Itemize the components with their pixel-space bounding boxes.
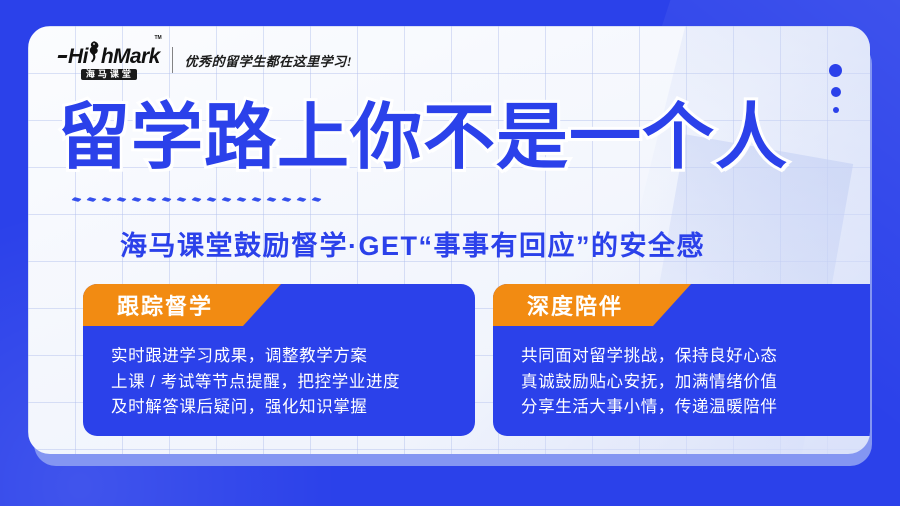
- slash-divider: [72, 198, 321, 201]
- slash-mark-icon: [296, 197, 306, 202]
- brand-header: Hi hMark TM 海马课堂 优秀的留学生都在这里学习!: [58, 40, 352, 80]
- slash-mark-icon: [86, 197, 96, 202]
- card-tab-label: 深度陪伴: [527, 289, 623, 321]
- page-title: 留学路上你不是一个人: [58, 102, 788, 174]
- slash-mark-icon: [281, 197, 291, 202]
- logo-trademark: TM: [154, 36, 161, 41]
- card-tab-companionship: 深度陪伴: [493, 284, 691, 326]
- dot-decoration-group: [829, 64, 842, 113]
- slash-mark-icon: [251, 197, 261, 202]
- card-line: 及时解答课后疑问，强化知识掌握: [111, 395, 475, 421]
- logo-dash-icon: [58, 55, 68, 58]
- slash-mark-icon: [206, 197, 216, 202]
- slash-mark-icon: [116, 197, 126, 202]
- slash-mark-icon: [161, 197, 171, 202]
- card-line: 真诚鼓励贴心安抚，加满情绪价值: [521, 370, 870, 396]
- card-line: 分享生活大事小情，传递温暖陪伴: [521, 395, 870, 421]
- dot-small-icon: [833, 107, 839, 113]
- dot-large-icon: [829, 64, 842, 77]
- card-line: 共同面对留学挑战，保持良好心态: [521, 344, 870, 370]
- slash-mark-icon: [236, 197, 246, 202]
- poster-canvas: Hi hMark TM 海马课堂 优秀的留学生都在这里学习!: [0, 0, 900, 506]
- feature-card-companionship: 深度陪伴 共同面对留学挑战，保持良好心态 真诚鼓励贴心安抚，加满情绪价值 分享生…: [493, 284, 870, 436]
- feature-card-group: 跟踪督学 实时跟进学习成果，调整教学方案 上课 / 考试等节点提醒，把控学业进度…: [83, 284, 870, 436]
- card-body-tracking: 实时跟进学习成果，调整教学方案 上课 / 考试等节点提醒，把控学业进度 及时解答…: [83, 326, 475, 421]
- slash-mark-icon: [101, 197, 111, 202]
- slash-mark-icon: [146, 197, 156, 202]
- slash-mark-icon: [71, 197, 81, 202]
- card-line: 上课 / 考试等节点提醒，把控学业进度: [111, 370, 475, 396]
- logo-wordmark: Hi hMark TM: [58, 41, 160, 67]
- feature-card-tracking: 跟踪督学 实时跟进学习成果，调整教学方案 上课 / 考试等节点提醒，把控学业进度…: [83, 284, 475, 436]
- page-subtitle: 海马课堂鼓励督学·GET“事事有回应”的安全感: [120, 224, 705, 263]
- highmark-logo: Hi hMark TM 海马课堂: [58, 41, 160, 80]
- card-tab-tracking: 跟踪督学: [83, 284, 281, 326]
- logo-prefix-text: Hi: [68, 46, 88, 67]
- content-panel: Hi hMark TM 海马课堂 优秀的留学生都在这里学习!: [28, 26, 870, 454]
- card-body-companionship: 共同面对留学挑战，保持良好心态 真诚鼓励贴心安抚，加满情绪价值 分享生活大事小情…: [493, 326, 870, 421]
- card-line: 实时跟进学习成果，调整教学方案: [111, 344, 475, 370]
- slash-mark-icon: [311, 197, 321, 202]
- dot-medium-icon: [831, 87, 841, 97]
- slash-mark-icon: [266, 197, 276, 202]
- logo-suffix-text: hMark: [101, 46, 160, 67]
- slash-mark-icon: [221, 197, 231, 202]
- card-tab-label: 跟踪督学: [117, 289, 213, 321]
- horse-icon: [88, 41, 101, 63]
- logo-chinese-name: 海马课堂: [81, 69, 137, 80]
- slash-mark-icon: [191, 197, 201, 202]
- slash-mark-icon: [131, 197, 141, 202]
- header-divider: [172, 47, 173, 73]
- brand-tagline: 优秀的留学生都在这里学习!: [185, 51, 353, 70]
- slash-mark-icon: [176, 197, 186, 202]
